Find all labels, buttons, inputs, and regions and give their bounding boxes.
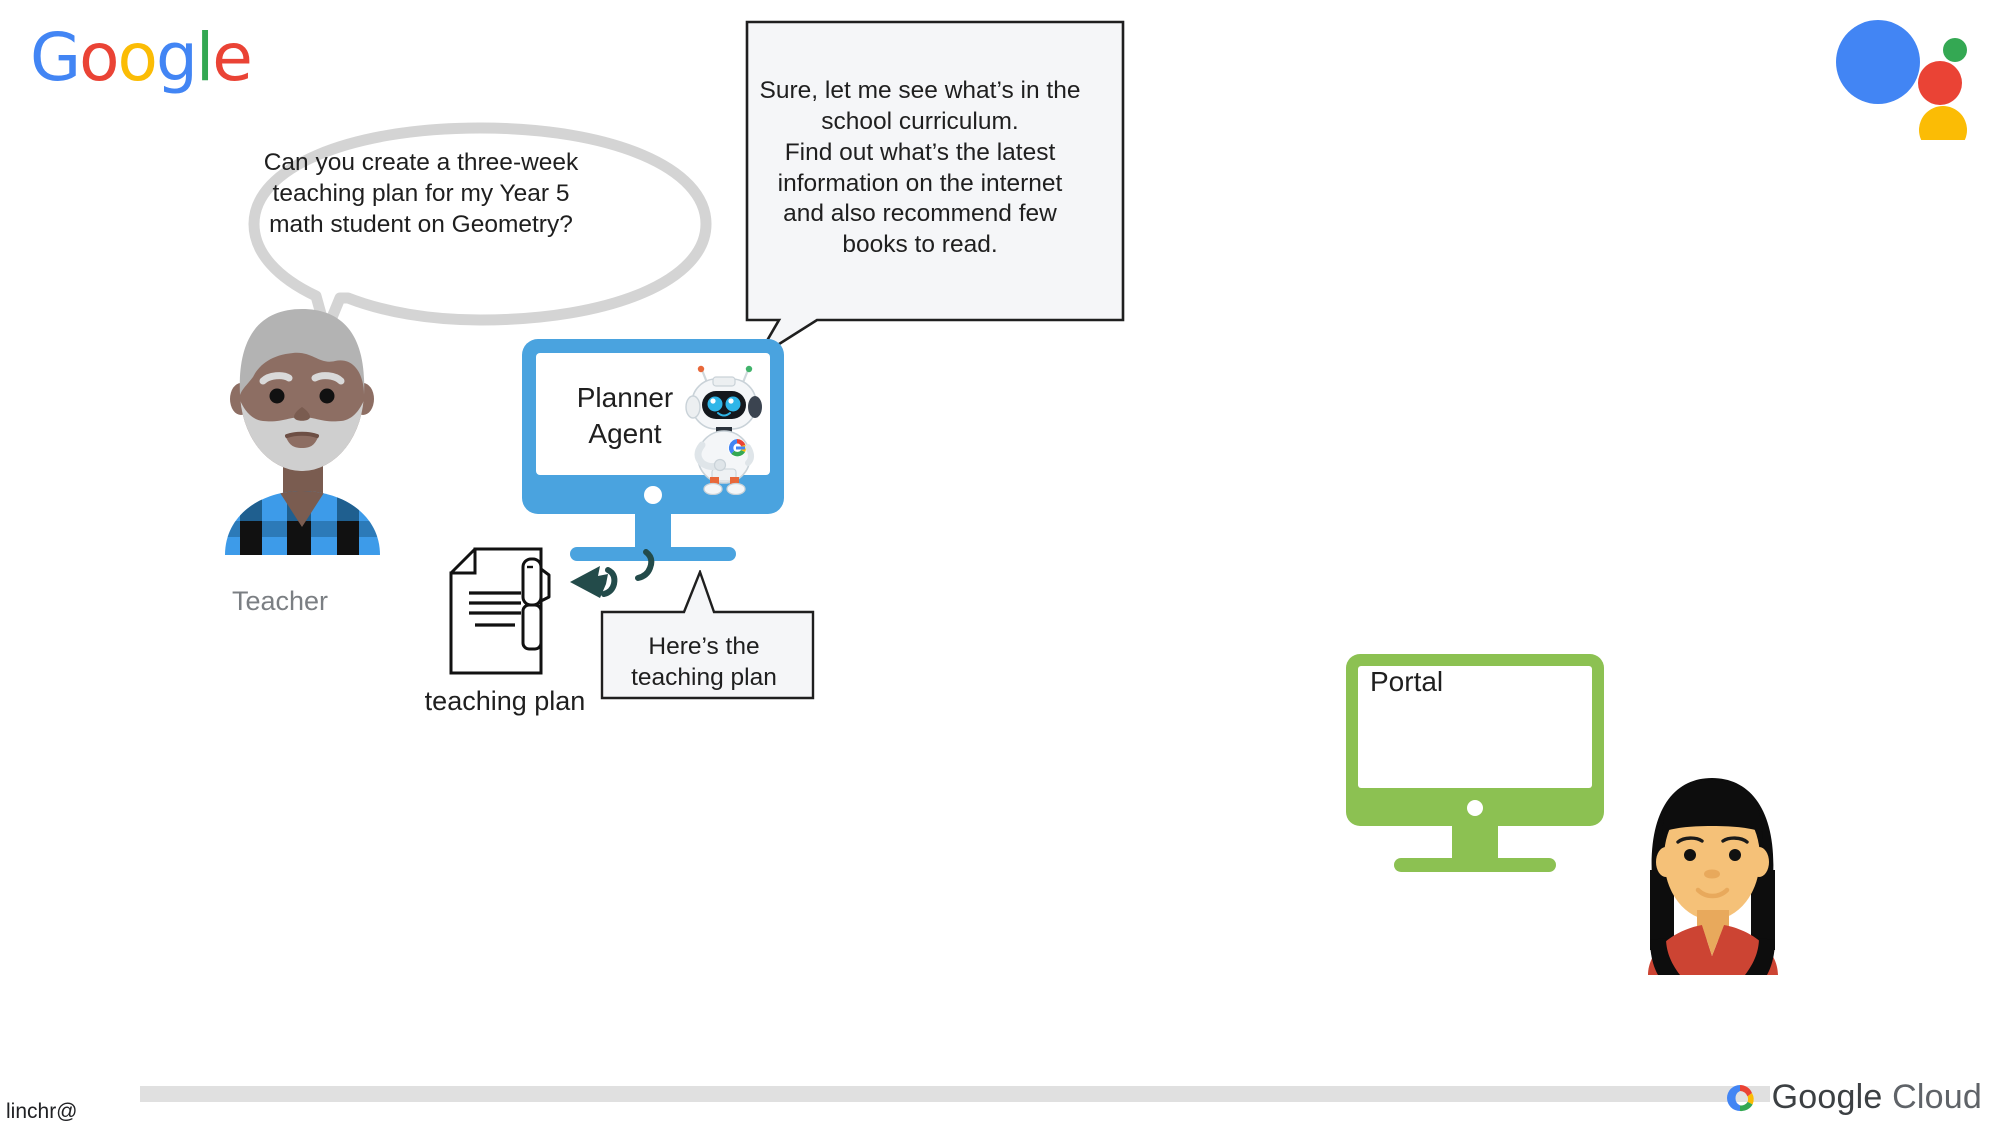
teacher-bubble-text: Can you create a three-week teaching pla… [256, 148, 586, 241]
teacher-lip-line [287, 434, 317, 436]
teacher-label: Teacher [200, 585, 360, 618]
google-cloud-logo-icon [1719, 1081, 1761, 1115]
robot-antenna-bulb-left [698, 366, 704, 372]
teacher-avatar [215, 295, 390, 555]
robot-eye-left [708, 397, 723, 412]
robot-foot-right [727, 484, 745, 495]
robot-arm-right [748, 447, 751, 463]
student-nose [1704, 870, 1720, 879]
student-eye-left [1684, 849, 1696, 861]
teacher-eye-left [270, 389, 285, 404]
gcloud-word-google: Google [1772, 1078, 1883, 1116]
robot-foot-left [704, 484, 722, 495]
robot-hand-left [715, 460, 726, 471]
robot-google-g-badge [728, 439, 746, 457]
planner-agent-screen-label: Planner Agent [560, 380, 690, 452]
footer-divider-bar [140, 1086, 1770, 1102]
slide-canvas: Google Can you create a three-week teach… [0, 0, 2000, 1123]
robot-ear-left [686, 396, 700, 418]
robot-eye-right [726, 397, 741, 412]
robot-head-panel [713, 377, 735, 386]
robot-eye-glint-right [728, 398, 733, 403]
teaching-plan-label: teaching plan [420, 685, 590, 718]
google-logo-letter-o2: o [118, 25, 156, 91]
google-assistant-dots-icon [1830, 20, 1980, 140]
assistant-blue-dot [1836, 20, 1920, 104]
assistant-red-dot [1918, 61, 1962, 105]
author-handle: linchr@ [6, 1100, 78, 1124]
portal-monitor-neck [1452, 826, 1498, 862]
assistant-green-dot [1943, 38, 1967, 62]
robot-agent-icon [680, 365, 768, 495]
assistant-yellow-dot [1919, 106, 1967, 140]
google-logo-letter-g2: g [156, 25, 196, 91]
google-logo-letter-o1: o [79, 25, 117, 91]
handoff-callout-text: Here’s the teaching plan [604, 632, 804, 694]
teacher-shirt [215, 485, 390, 555]
portal-screen-label: Portal [1370, 665, 1570, 699]
portal-monitor-power-dot [1467, 800, 1483, 816]
gcloud-word-cloud: Cloud [1892, 1078, 1982, 1116]
google-logo-letter-l: l [196, 25, 212, 91]
teacher-eye-right [320, 389, 335, 404]
document-fold [451, 549, 475, 573]
pen-icon [523, 559, 549, 649]
google-cloud-wordmark: Google Cloud [1772, 1078, 1982, 1117]
google-cloud-lockup: Google Cloud [1719, 1078, 1982, 1117]
student-eye-right [1729, 849, 1741, 861]
planner-monitor-power-dot [644, 486, 662, 504]
google-logo: Google [30, 25, 251, 91]
student-avatar [1640, 770, 1785, 975]
agent-bubble-text: Sure, let me see what’s in the school cu… [750, 76, 1090, 261]
robot-antenna-bulb-right [746, 366, 752, 372]
robot-eye-glint-left [710, 398, 715, 403]
google-logo-letter-g: G [30, 25, 79, 91]
google-logo-letter-e: e [212, 25, 251, 91]
robot-ear-right [748, 396, 762, 418]
portal-monitor-base [1394, 858, 1556, 872]
document-with-pen-icon [445, 545, 570, 680]
